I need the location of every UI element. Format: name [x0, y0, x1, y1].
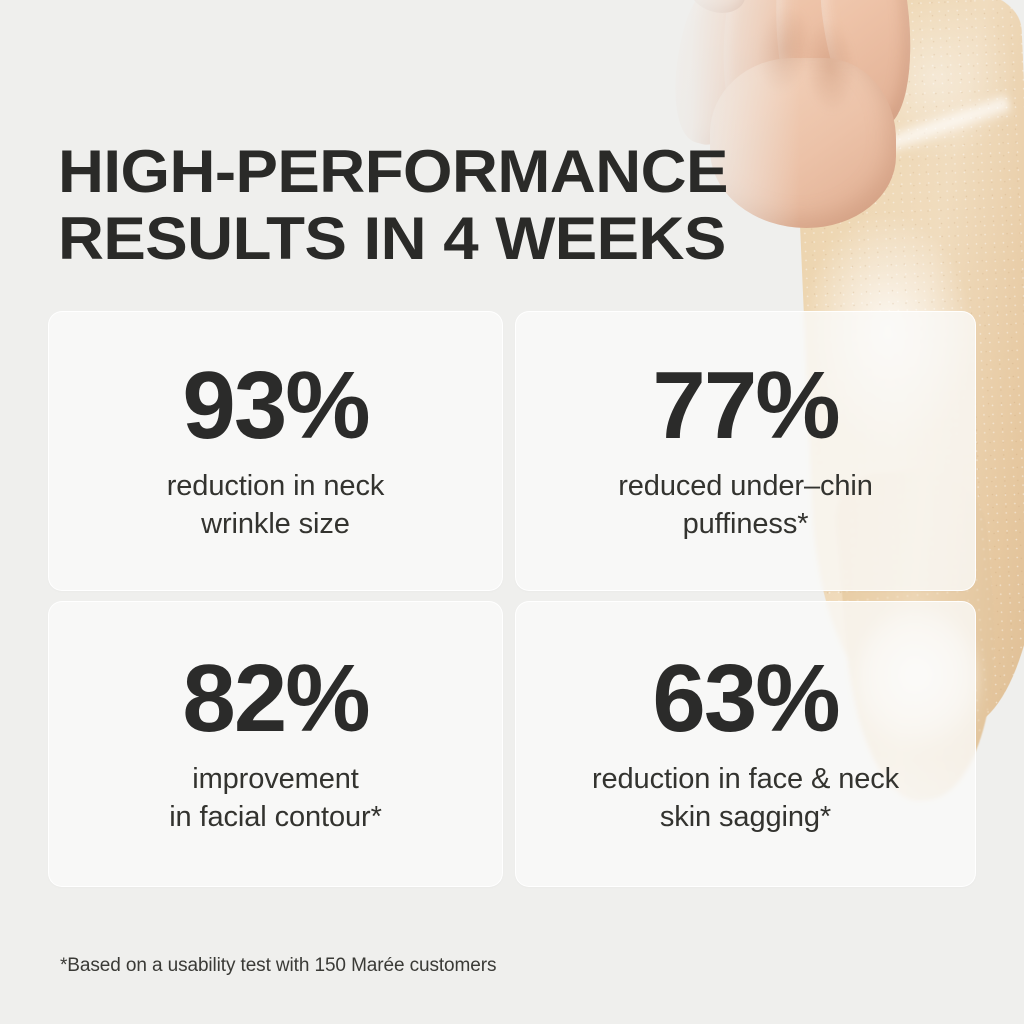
footnote-disclaimer: *Based on a usability test with 150 Maré… — [60, 955, 496, 977]
finger-4 — [812, 0, 922, 132]
knuckle-shadow-1 — [749, 0, 820, 98]
page-title-line-2: RESULTS IN 4 WEEKS — [58, 205, 800, 272]
patch-crease-highlight — [819, 91, 1013, 179]
stat-card-grid: 93% reduction in neck wrinkle size 77% r… — [48, 311, 976, 887]
stat-value: 93% — [182, 358, 368, 454]
stat-card-skin-sagging: 63% reduction in face & neck skin saggin… — [515, 601, 976, 887]
stat-value: 63% — [652, 651, 838, 747]
finger-2 — [712, 0, 821, 142]
stat-card-under-chin-puffiness: 77% reduced under–chin puffiness* — [515, 311, 976, 591]
stat-label: reduction in face & neck skin sagging* — [574, 761, 917, 836]
promo-graphic: HIGH-PERFORMANCE RESULTS IN 4 WEEKS 93% … — [0, 0, 1024, 1024]
stat-label: reduced under–chin puffiness* — [600, 468, 891, 543]
stat-value: 77% — [652, 358, 838, 454]
page-title: HIGH-PERFORMANCE RESULTS IN 4 WEEKS — [58, 138, 800, 272]
stat-card-neck-wrinkle: 93% reduction in neck wrinkle size — [48, 311, 503, 591]
finger-3 — [774, 0, 860, 129]
page-title-line-1: HIGH-PERFORMANCE — [58, 138, 800, 205]
stat-value: 82% — [182, 651, 368, 747]
stat-label: improvement in facial contour* — [151, 761, 400, 836]
thumb-tip — [683, 0, 751, 20]
stat-card-facial-contour: 82% improvement in facial contour* — [48, 601, 503, 887]
stat-label: reduction in neck wrinkle size — [149, 468, 403, 543]
finger-1 — [658, 0, 784, 154]
knuckle-shadow-2 — [801, 16, 860, 115]
